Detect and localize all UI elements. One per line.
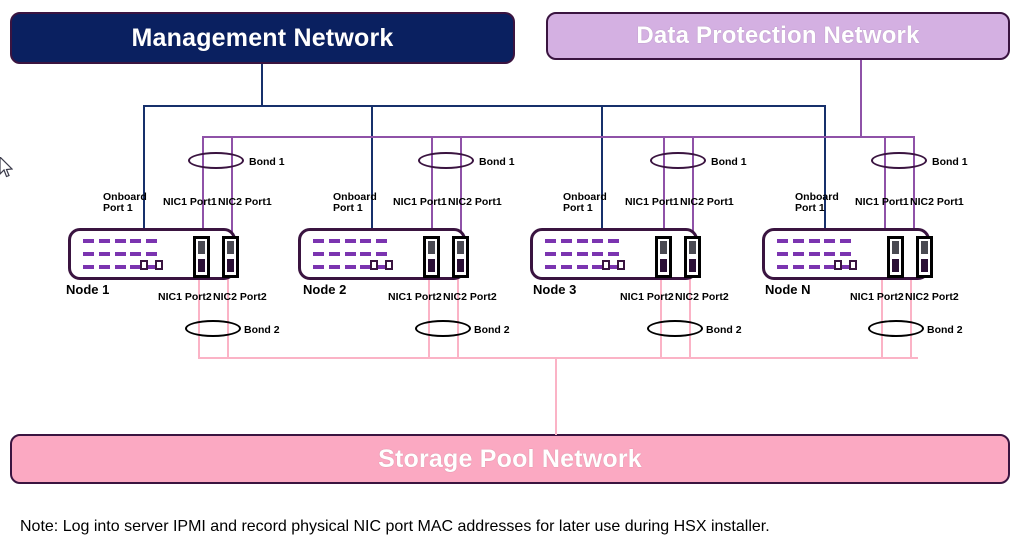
node-chassis-N — [762, 228, 930, 280]
nic1-port2-label-node1: NIC1 Port2 — [158, 292, 212, 303]
nic2-block-node3 — [684, 236, 701, 278]
nic1-block-node3 — [655, 236, 672, 278]
nic2-port2-label-nodeN: NIC2 Port2 — [905, 292, 959, 303]
nic2-port2-label-node3: NIC2 Port2 — [675, 292, 729, 303]
wire-sp-node2-nic2 — [457, 272, 459, 358]
bond2-ellipse-node1 — [185, 320, 241, 337]
nic1-port1-slot-nodeN — [892, 241, 899, 254]
onboard-port-2-node1 — [155, 260, 163, 270]
management-network-box: Management Network — [10, 12, 515, 64]
onboard-port-label-nodeN: Onboard Port 1 — [795, 192, 839, 214]
note-text: Note: Log into server IPMI and record ph… — [20, 518, 770, 536]
nic2-port1-slot-node2 — [457, 241, 464, 254]
nic2-port2-slot-node3 — [689, 259, 696, 272]
wire-sp-node3-nic2 — [689, 272, 691, 358]
wire-dataprotection-bus — [202, 136, 913, 138]
storage-pool-network-label: Storage Pool Network — [378, 445, 642, 474]
nic1-port1-slot-node2 — [428, 241, 435, 254]
bond1-label-node2: Bond 1 — [479, 156, 515, 168]
nic1-port1-label-node1: NIC1 Port1 — [163, 197, 217, 208]
bond1-label-node3: Bond 1 — [711, 156, 747, 168]
nic1-port1-slot-node1 — [198, 241, 205, 254]
onboard-port-1-node3 — [602, 260, 610, 270]
nic1-block-node2 — [423, 236, 440, 278]
onboard-port-label-node3: Onboard Port 1 — [563, 192, 607, 214]
nic2-port1-slot-node1 — [227, 241, 234, 254]
nic2-port1-label-nodeN: NIC2 Port1 — [910, 197, 964, 208]
storage-pool-network-box: Storage Pool Network — [10, 434, 1010, 484]
nic1-port1-slot-node3 — [660, 241, 667, 254]
nic1-port2-slot-node3 — [660, 259, 667, 272]
nic2-block-node2 — [452, 236, 469, 278]
onboard-port-2-node3 — [617, 260, 625, 270]
nic1-block-nodeN — [887, 236, 904, 278]
node-name-2: Node 2 — [303, 282, 346, 297]
onboard-port-1-nodeN — [834, 260, 842, 270]
nic2-port2-label-node2: NIC2 Port2 — [443, 292, 497, 303]
node-chassis-2 — [298, 228, 466, 280]
node-chassis-1 — [68, 228, 236, 280]
wire-dp-node3-nic1 — [663, 136, 665, 236]
nic1-port1-label-node2: NIC1 Port1 — [393, 197, 447, 208]
wire-dp-node3-nic2 — [692, 136, 694, 236]
node-chassis-3 — [530, 228, 698, 280]
bond1-label-node1: Bond 1 — [249, 156, 285, 168]
onboard-port-2-nodeN — [849, 260, 857, 270]
wire-dp-node2-nic2 — [460, 136, 462, 236]
bond1-label-nodeN: Bond 1 — [932, 156, 968, 168]
data-protection-network-box: Data Protection Network — [546, 12, 1010, 60]
nic2-block-node1 — [222, 236, 239, 278]
bond2-label-node3: Bond 2 — [706, 324, 742, 336]
onboard-port-1-node1 — [140, 260, 148, 270]
diagram-canvas: Management Network Data Protection Netwo… — [0, 0, 1024, 555]
wire-dp-node2-nic1 — [431, 136, 433, 236]
nic1-port2-slot-node1 — [198, 259, 205, 272]
onboard-port-2-node2 — [385, 260, 393, 270]
wire-sp-drop-to-box — [555, 357, 557, 435]
wire-dp-nodeN-nic2 — [913, 136, 915, 236]
nic2-port1-label-node2: NIC2 Port1 — [448, 197, 502, 208]
wire-dp-node1-nic1 — [202, 136, 204, 236]
bond1-ellipse-nodeN — [871, 152, 927, 169]
nic2-port2-slot-nodeN — [921, 259, 928, 272]
wire-dataprotection-drop — [860, 60, 862, 137]
onboard-port-label-node2: Onboard Port 1 — [333, 192, 377, 214]
nic1-port1-label-nodeN: NIC1 Port1 — [855, 197, 909, 208]
wire-sp-node3-nic1 — [660, 272, 662, 358]
nic2-port2-label-node1: NIC2 Port2 — [213, 292, 267, 303]
nic2-port1-slot-nodeN — [921, 241, 928, 254]
mouse-cursor-icon — [0, 157, 13, 179]
nic2-port2-slot-node1 — [227, 259, 234, 272]
nic2-port1-label-node1: NIC2 Port1 — [218, 197, 272, 208]
onboard-port-1-node2 — [370, 260, 378, 270]
nic2-port1-label-node3: NIC2 Port1 — [680, 197, 734, 208]
wire-sp-nodeN-nic2 — [910, 272, 912, 358]
node-name-1: Node 1 — [66, 282, 109, 297]
bond2-ellipse-nodeN — [868, 320, 924, 337]
wire-sp-nodeN-nic1 — [881, 272, 883, 358]
nic1-port2-slot-node2 — [428, 259, 435, 272]
wire-sp-bus — [198, 357, 918, 359]
bond2-ellipse-node2 — [415, 320, 471, 337]
bond2-label-nodeN: Bond 2 — [927, 324, 963, 336]
data-protection-network-label: Data Protection Network — [636, 22, 919, 50]
wire-dp-nodeN-nic1 — [884, 136, 886, 236]
wire-management-bus — [143, 105, 826, 107]
onboard-port-label-node1: Onboard Port 1 — [103, 192, 147, 214]
bond2-label-node2: Bond 2 — [474, 324, 510, 336]
nic2-block-nodeN — [916, 236, 933, 278]
wire-sp-node1-nic2 — [227, 272, 229, 358]
bond2-ellipse-node3 — [647, 320, 703, 337]
management-network-label: Management Network — [132, 24, 394, 53]
wire-dp-node1-nic2 — [231, 136, 233, 236]
bond1-ellipse-node1 — [188, 152, 244, 169]
wire-sp-node1-nic1 — [198, 272, 200, 358]
wire-management-drop — [261, 64, 263, 106]
wire-sp-node2-nic1 — [428, 272, 430, 358]
nic1-block-node1 — [193, 236, 210, 278]
bond1-ellipse-node3 — [650, 152, 706, 169]
nic1-port2-label-nodeN: NIC1 Port2 — [850, 292, 904, 303]
nic1-port1-label-node3: NIC1 Port1 — [625, 197, 679, 208]
nic1-port2-label-node3: NIC1 Port2 — [620, 292, 674, 303]
nic2-port2-slot-node2 — [457, 259, 464, 272]
nic1-port2-slot-nodeN — [892, 259, 899, 272]
bond1-ellipse-node2 — [418, 152, 474, 169]
bond2-label-node1: Bond 2 — [244, 324, 280, 336]
nic2-port1-slot-node3 — [689, 241, 696, 254]
node-name-3: Node 3 — [533, 282, 576, 297]
nic1-port2-label-node2: NIC1 Port2 — [388, 292, 442, 303]
node-name-N: Node N — [765, 282, 811, 297]
